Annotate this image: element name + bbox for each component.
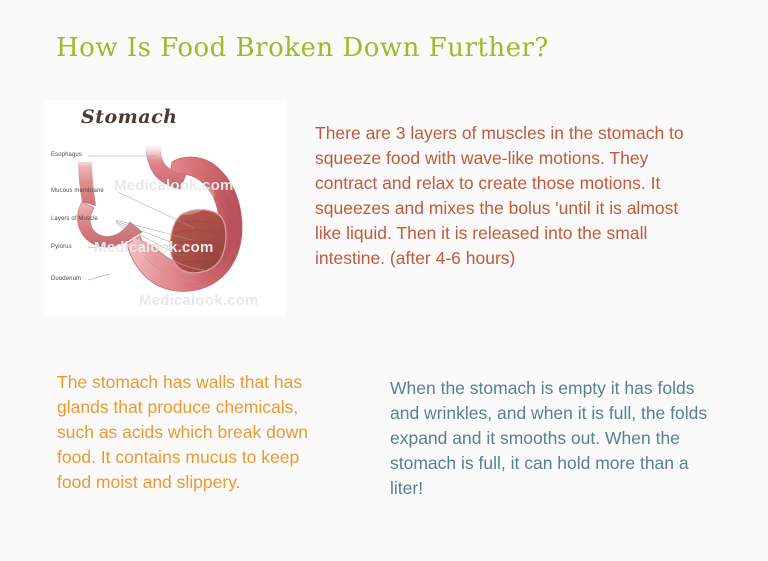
page-title: How Is Food Broken Down Further?	[56, 33, 549, 63]
watermark-medicalook-3: Medicalook.com	[139, 292, 259, 309]
text-block-folds: When the stomach is empty it has folds a…	[390, 376, 720, 501]
diagram-label-pylorus: Pylorus	[51, 244, 72, 250]
esophagus-fade	[140, 144, 166, 160]
diagram-label-mucous-membrane: Mucous membrane	[51, 188, 104, 194]
watermark-medicalook-2: Medicalook.com	[94, 239, 214, 256]
stomach-anatomy-illustration	[44, 144, 286, 315]
diagram-label-esophagus: Esophagus	[51, 152, 82, 158]
illustration-heading: Stomach	[81, 106, 177, 128]
duodenum-descending	[78, 162, 96, 206]
diagram-label-layers-of-muscle: Layers of Muscle	[51, 216, 98, 222]
stomach-illustration-panel: Stomach	[44, 100, 286, 315]
text-block-muscles: There are 3 layers of muscles in the sto…	[315, 121, 695, 271]
stomach-diagram: Medicalook.com Medicalook.com Medicalook…	[44, 144, 286, 315]
watermark-medicalook-1: Medicalook.com	[114, 177, 234, 194]
text-block-glands: The stomach has walls that has glands th…	[57, 370, 319, 495]
slide-canvas: How Is Food Broken Down Further? Stomach	[0, 0, 768, 561]
diagram-label-duodenum: Duodenum	[51, 276, 81, 282]
